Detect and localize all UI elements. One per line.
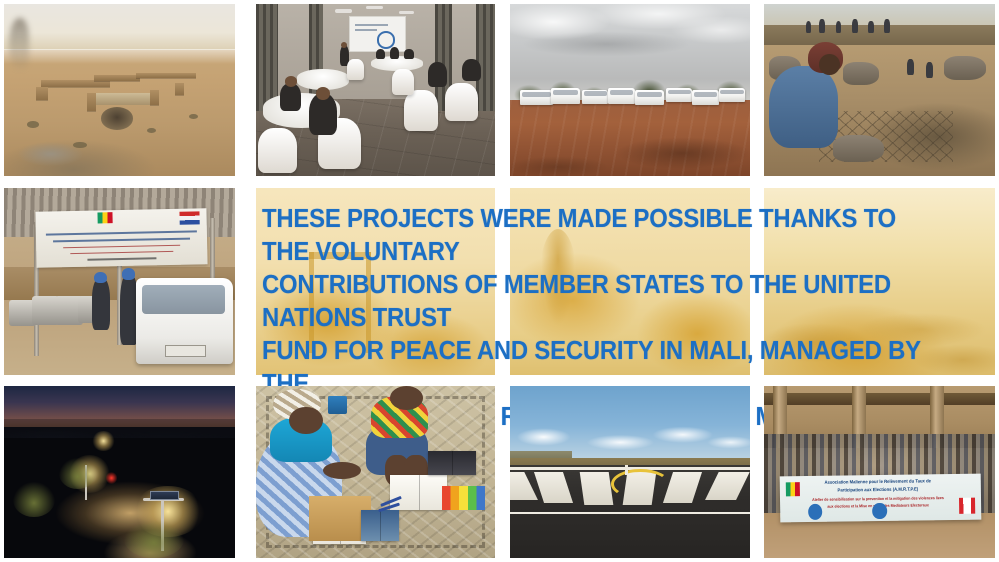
un-vehicle — [582, 90, 608, 104]
un-vehicle — [551, 88, 580, 103]
vehicle-tail-light — [106, 472, 118, 484]
seated-attendee — [280, 83, 302, 111]
seated-attendee — [462, 59, 481, 81]
banquet-chair — [347, 59, 364, 80]
mali-flag-icon — [786, 482, 800, 497]
photo-literacy-class-on-mat — [256, 386, 495, 558]
banquet-chair — [392, 69, 414, 95]
licence-plate — [165, 345, 206, 356]
photo-airport-runway-threshold — [510, 386, 750, 558]
foundation-wall — [87, 93, 96, 110]
dust-plume — [9, 18, 30, 70]
dust-haze — [4, 49, 235, 64]
windscreen — [142, 285, 225, 314]
white-minibus — [136, 278, 233, 364]
small-radio — [328, 396, 347, 413]
collage-board: THESE PROJECTS WERE MADE POSSIBLE THANKS… — [0, 0, 999, 562]
learner-face — [289, 407, 322, 435]
villager — [868, 21, 874, 33]
lamp-glow — [92, 431, 115, 452]
villager — [819, 19, 825, 33]
learner-face — [390, 386, 423, 410]
panelist — [390, 47, 400, 59]
ceremony-banner — [36, 209, 208, 269]
photo-unpol-equipment-handover — [4, 188, 235, 375]
cumulus-clouds — [510, 410, 750, 455]
solar-panel — [150, 491, 180, 500]
foundation-wall — [41, 80, 110, 87]
boulder — [843, 62, 880, 84]
villager — [852, 19, 858, 33]
foundation-wall — [150, 90, 159, 105]
minusma-logo — [808, 504, 822, 520]
roadside-tree — [124, 520, 184, 558]
canada-flag-icon — [959, 498, 975, 514]
learner-arm — [323, 462, 361, 479]
un-vehicle — [692, 90, 718, 105]
villager — [926, 62, 933, 77]
villager — [884, 19, 890, 33]
slide-diagram — [377, 31, 395, 48]
building-lintel — [764, 393, 995, 405]
centreline — [625, 465, 628, 475]
presentation-screen — [349, 16, 406, 52]
un-vehicle — [719, 88, 745, 102]
photo-conference-room-meeting — [256, 4, 495, 176]
villager — [836, 21, 842, 33]
panelist — [404, 49, 414, 59]
blue-helmet — [122, 268, 135, 279]
taxi-guideline — [611, 469, 670, 499]
boulder — [944, 56, 986, 80]
photo-gabion-wall-worker — [764, 4, 995, 176]
window-curtain — [256, 4, 278, 111]
un-vehicle — [520, 90, 554, 105]
scrub-bush — [27, 121, 39, 128]
foundation-wall — [36, 87, 48, 101]
attendee-head — [285, 76, 297, 86]
banquet-chair — [404, 90, 437, 131]
foundation-wall — [94, 75, 140, 81]
banner-line-1: Association Malienne pour le Relèvement … — [804, 478, 952, 485]
runway-edge-line — [510, 512, 750, 514]
excavation-pit — [101, 107, 133, 129]
workshop-banner: Association Malienne pour le Relèvement … — [780, 474, 982, 523]
photo-election-awareness-group: Association Malienne pour le Relèvement … — [764, 386, 995, 558]
stone-pile — [833, 135, 884, 163]
banquet-chair — [445, 83, 478, 121]
worker-body — [769, 66, 838, 149]
worker-face — [819, 54, 840, 75]
villager — [806, 21, 812, 33]
colour-card — [442, 486, 485, 510]
mali-flag-icon — [97, 212, 113, 224]
photo-un-vehicle-fleet — [510, 4, 750, 176]
concrete-slab — [92, 93, 157, 105]
un-vehicle — [608, 88, 634, 103]
un-logo — [873, 503, 887, 519]
un-police-officer — [92, 278, 110, 330]
banner-line-2: Participation aux Elections (A.M.R.T.P.E… — [804, 487, 952, 494]
un-vehicle — [666, 88, 692, 102]
foundation-wall — [136, 73, 196, 78]
villager — [907, 59, 914, 74]
blue-helmet — [94, 272, 107, 283]
ground-texture — [510, 100, 750, 176]
seated-attendee — [428, 62, 447, 86]
photo-desert-construction-site — [4, 4, 235, 176]
photo-solar-street-lighting-night — [4, 386, 235, 558]
ceiling-light — [399, 11, 413, 14]
panelist — [376, 49, 386, 59]
dark-case — [428, 451, 476, 475]
threshold-stripe — [580, 472, 613, 505]
netherlands-flag-icon — [179, 212, 200, 225]
un-vehicle — [635, 90, 664, 105]
banquet-chair — [258, 128, 296, 173]
roadside-tree — [13, 482, 55, 516]
ceiling-light — [335, 9, 352, 12]
window-curtain — [476, 4, 495, 111]
foundation-wall — [175, 83, 184, 95]
ceiling-light — [366, 6, 383, 9]
picture-card — [361, 510, 399, 541]
